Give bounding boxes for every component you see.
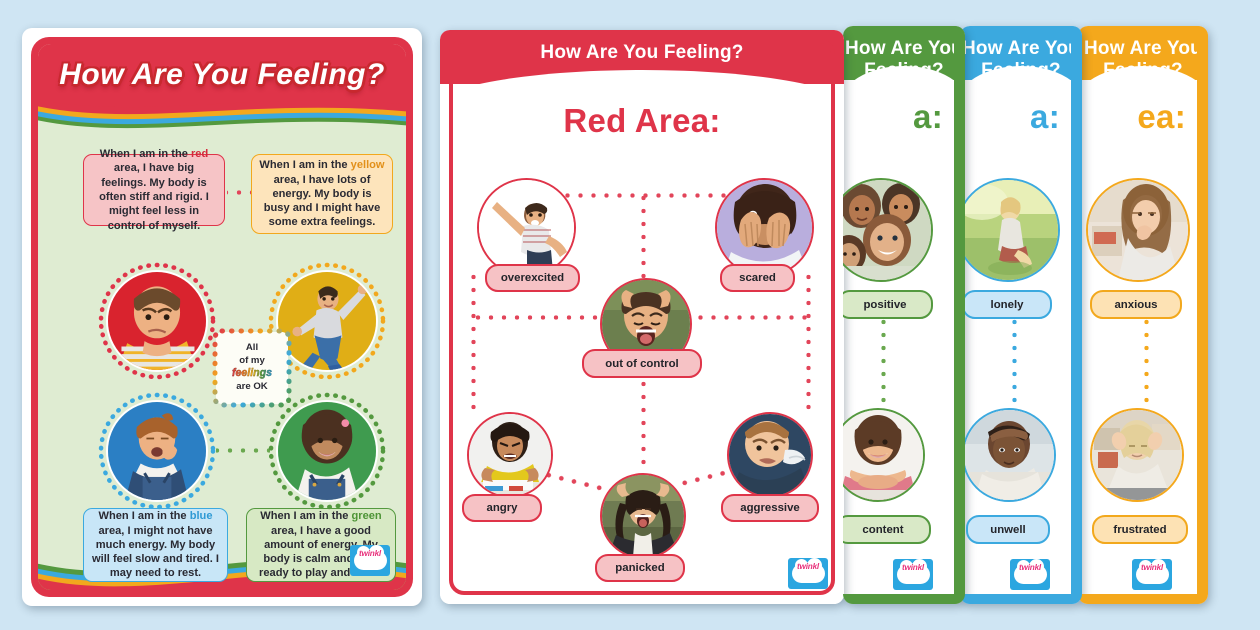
header-title: How Are You Feeling? <box>960 38 1082 82</box>
poster-bottom-edge <box>843 594 954 604</box>
feeling-photo-aggressive <box>727 412 813 498</box>
description-blue: When I am in the blue area, I might not … <box>83 508 228 582</box>
connector-dots <box>881 318 886 404</box>
yawning-girl-photo-art <box>108 402 206 500</box>
feeling-photo-panicked <box>600 473 686 559</box>
all-feelings-ok-badge: All of my feelings are OK <box>216 332 288 404</box>
poster-overview[interactable]: How Are You Feeling? When I am in the re… <box>22 28 422 606</box>
poster-inner: How Are You Feeling? When I am in the re… <box>38 44 406 590</box>
anxious-photo-art <box>1088 180 1188 280</box>
feeling-photo-scared <box>715 178 814 277</box>
aggressive-photo-art <box>729 414 811 496</box>
area-title: ea: <box>1078 98 1208 136</box>
twinkl-logo-icon: twinkl <box>1010 559 1050 590</box>
area-title: Red Area: <box>440 102 844 140</box>
feeling-label-overexcited[interactable]: overexcited <box>485 264 580 292</box>
feeling-label-panicked[interactable]: panicked <box>595 554 685 582</box>
feeling-label-angry[interactable]: angry <box>462 494 542 522</box>
frustrated-photo-art <box>1092 410 1182 500</box>
happy-girl-photo-art <box>278 402 376 500</box>
twinkl-logo-icon: twinkl <box>893 559 933 590</box>
page-title: How Are You Feeling? <box>38 58 406 92</box>
unwell-photo-art <box>964 410 1054 500</box>
poster-side-edge <box>1071 26 1082 604</box>
photo-circle-red <box>98 262 216 380</box>
poster-header: How Are You Feeling? <box>1078 26 1208 80</box>
poster-header: How Are You Feeling? <box>960 26 1082 80</box>
poster-header: How Are You Feeling? <box>843 26 965 80</box>
feeling-label-lonely[interactable]: lonely <box>962 290 1052 319</box>
scared-photo-art <box>717 180 812 275</box>
angry-boy-photo-art <box>108 272 206 370</box>
poster-yellow-area[interactable]: How Are You Feeling? ea: anxious <box>1078 26 1208 604</box>
feeling-label-aggressive[interactable]: aggressive <box>721 494 819 522</box>
poster-bottom-edge <box>960 594 1071 604</box>
feeling-photo-angry <box>467 412 553 498</box>
twinkl-logo-icon: twinkl <box>350 545 390 576</box>
poster-bottom-edge <box>1078 594 1197 604</box>
feeling-photo-frustrated <box>1090 408 1184 502</box>
feeling-label-content[interactable]: content <box>843 515 931 544</box>
header-title: How Are You Feeling? <box>1078 38 1208 82</box>
poster-stage: How Are You Feeling? ea: anxious <box>0 0 1260 630</box>
poster-green-area[interactable]: How Are You Feeling? a: <box>843 26 965 604</box>
connector-dots-left <box>471 268 476 416</box>
photo-frame <box>276 400 378 502</box>
rainbow-wave-top <box>38 90 406 136</box>
photo-frame <box>106 400 208 502</box>
positive-photo-art <box>843 180 931 280</box>
poster-blue-area[interactable]: How Are You Feeling? a: lonely <box>960 26 1082 604</box>
feeling-label-out-of-control[interactable]: out of control <box>582 349 702 378</box>
photo-frame <box>106 270 208 372</box>
description-yellow: When I am in the yellow area, I have lot… <box>251 154 393 234</box>
lonely-photo-art <box>960 180 1058 280</box>
feeling-label-positive[interactable]: positive <box>843 290 933 319</box>
poster-red-area[interactable]: How Are You Feeling? Red Area: <box>440 30 844 604</box>
feeling-label-frustrated[interactable]: frustrated <box>1092 515 1188 544</box>
connector-dots-center-down <box>641 375 646 471</box>
angry-photo-art <box>469 414 551 496</box>
header-title: How Are You Feeling? <box>440 42 844 64</box>
feeling-photo-unwell <box>962 408 1056 502</box>
connector-dots <box>1144 318 1149 404</box>
photo-circle-blue <box>98 392 216 510</box>
feeling-photo-overexcited <box>477 178 576 277</box>
content-photo-art <box>843 410 923 500</box>
poster-side-edge <box>954 26 965 604</box>
feeling-photo-lonely <box>960 178 1060 282</box>
photo-circle-green <box>268 392 386 510</box>
connector-dots-top-center <box>641 193 646 281</box>
rainbow-dotted-border <box>211 327 293 409</box>
connector-dots-right <box>806 268 811 416</box>
feeling-label-unwell[interactable]: unwell <box>966 515 1050 544</box>
poster-side-edge <box>1197 26 1208 604</box>
poster-border: How Are You Feeling? When I am in the re… <box>31 37 413 597</box>
twinkl-logo-icon: twinkl <box>1132 559 1172 590</box>
connector-dots-boxes <box>227 190 251 195</box>
header-title: How Are You Feeling? <box>843 38 965 82</box>
feeling-photo-anxious <box>1086 178 1190 282</box>
twinkl-logo-icon: twinkl <box>788 558 828 589</box>
description-red: When I am in the red area, I have big fe… <box>83 154 225 226</box>
area-title: a: <box>843 98 965 136</box>
panicked-photo-art <box>602 475 684 557</box>
connector-dots-bottom <box>216 448 270 453</box>
feeling-label-scared[interactable]: scared <box>720 264 795 292</box>
poster-header: How Are You Feeling? <box>440 30 844 84</box>
overexcited-photo-art <box>479 180 574 275</box>
area-title: a: <box>960 98 1082 136</box>
connector-dots <box>1012 318 1017 404</box>
feeling-label-anxious[interactable]: anxious <box>1090 290 1182 319</box>
